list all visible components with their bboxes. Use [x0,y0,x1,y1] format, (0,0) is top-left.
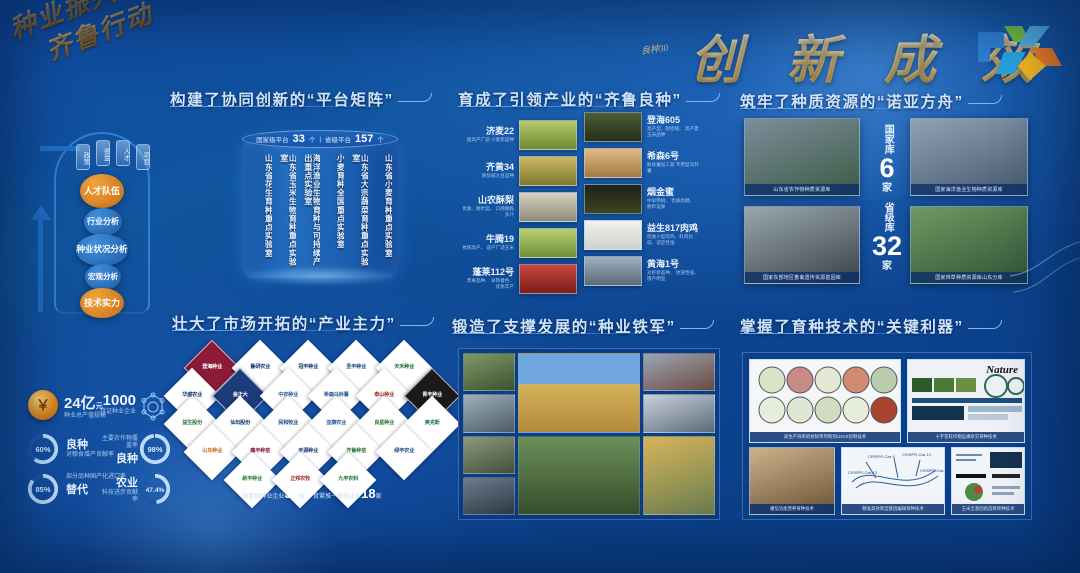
flow-node-technology: 技术实力 [80,288,124,318]
flow-node-seed-status: 种业状况分析 [76,234,128,266]
company-logo-label: 冠丰种业 [289,365,327,370]
underline-technology [740,333,945,334]
collage-photo-1 [463,394,515,432]
variety-9-desc: 对虾新品种、 抗逆性强、 增产明显 [647,270,699,281]
company-logo-label: 鲁研农业 [241,365,279,370]
matrix-national-value: 33 [293,133,305,145]
title-rule-icon [398,93,432,102]
matrix-national-label: 国家级平台 [256,134,289,144]
stat-1-label: 持证种业企业 [100,409,136,416]
statistics-panel: ￥ 24亿元 种业总产值规模 1000 持证种业企业 60% [14,388,174,513]
variety-item-9: 黄海1号 对虾新品种、 抗逆性强、 增产明显 [584,256,699,286]
matrix-national-unit: 个 [309,134,316,144]
matrix-cap-stats: 国家级平台33个 | 省级平台157个 [242,131,398,147]
flow-node-industry-analysis: 行业分析 [84,208,122,236]
variety-7-photo [584,184,642,214]
collage-photo-main-wheat [518,353,640,433]
variety-item-8: 益生817肉鸡 优质小型肉鸡、料肉比低、适应性强 [584,220,699,250]
variety-item-0: 济麦22 超高产广适 小麦新品种 [462,120,577,150]
calligraphy-seal: 种业振兴 齐鲁行动 [4,0,177,122]
underline-germplasm [740,108,955,109]
platform-matrix-cylinder: 国家级平台33个 | 省级平台157个 山东省花生育种重点实验室 山东省玉米生物… [228,124,412,292]
underline-team [452,333,657,334]
underline-platform [170,106,375,107]
genomic-selection-icon [952,448,1025,504]
stat-5-sublabel: 科技进步贡献率 [100,490,138,504]
tech-caption-3: 精准高效新型基因编辑育种技术 [842,504,944,514]
title-stamp: 良种30 [641,41,686,69]
company-logo-label: 天禾种业 [385,365,423,370]
ring-icon-3: 47.4% [138,472,172,506]
matrix-provincial-value: 157 [355,133,373,145]
variety-item-5: 登海605 高产型、耐密植、 高产夏玉米品种 [584,112,699,142]
matrix-label-4: 山东省大宗蔬菜育种重点实验室 [350,154,368,272]
company-logo-label: 圣丰种业 [337,365,375,370]
svg-text:CRISPR-Cas 13: CRISPR-Cas 13 [848,470,878,475]
ring-icon-0: 60% [26,432,60,466]
germplasm-counts: 国家库 6 家 省级库 32 家 [870,124,904,273]
variety-7-desc: 中早熟桃、 优质高糖、 耐贮运果 [647,198,699,209]
flow-node-talent: 人才队伍 [80,174,124,208]
industry-unit-2: 家 [376,494,382,500]
stat-5-label: 农业 [100,474,138,490]
variety-9-name: 黄海1号 [647,260,699,270]
company-logo-label: 良星种业 [365,421,403,426]
matrix-label-3: 小麦育种全国重点实验室 [326,154,344,272]
tech-panel-4: 玉米全基因组选择育种技术 [951,447,1025,515]
germplasm-provincial-label: 省级库 [881,202,894,232]
variety-5-name: 登海605 [647,116,699,126]
variety-6-name: 希森6号 [647,152,699,162]
flow-chip-2: 人才 [116,140,130,166]
flow-chip-0: 政策 [76,144,90,170]
variety-item-1: 齐黄34 耐盐碱大豆品种 [462,156,577,186]
ring-1-value: 98% [147,445,162,454]
variety-item-4: 蓬莱112号 苹果品种、 早熟着色、 优质丰产 [462,264,577,294]
stat-1-number: 1000 [100,392,136,409]
stat-3-sublabel: 主要农作物覆盖率 [102,436,138,450]
germplasm-national-unit: 家 [870,183,904,196]
stat-3-label: 良种 [102,450,138,466]
company-logo-label: 益生股份 [173,421,211,426]
variety-0-name: 济麦22 [462,127,514,137]
variety-3-photo [519,228,577,258]
title-rule-icon [686,93,720,102]
collage-photo-3 [463,477,515,515]
flow-chip-3: 项目 [136,144,150,170]
variety-1-desc: 耐盐碱大豆品种 [462,173,514,179]
svg-text:CRISPR-Cas 9: CRISPR-Cas 9 [868,454,896,459]
variety-8-photo [584,220,642,250]
germplasm-national-value: 6 [870,155,904,182]
company-logo-label: 正邦农牧 [281,477,319,482]
ring-3-value: 47.4% [146,487,165,494]
germplasm-caption-0: 山东省农作物种质资源库 [745,184,859,195]
variety-8-desc: 优质小型肉鸡、料肉比低、适应性强 [647,234,699,245]
collage-photo-portrait [643,436,715,516]
tech-caption-4: 玉米全基因组选择育种技术 [952,504,1024,514]
germplasm-caption-2: 国家东部地区畜禽遗传资源基因库 [745,272,859,283]
variety-2-name: 山农酥梨 [462,196,514,206]
svg-text:CRISPR-Cas 3: CRISPR-Cas 3 [920,468,945,473]
company-logo-label: 绿丰农业 [385,449,423,454]
flow-arrow-shaft [38,216,43,312]
flow-arrow-head-icon [31,205,51,220]
variety-item-2: 山农酥梨 优质、耐贮运、 口感酥脆多汁 [462,192,577,222]
variety-item-6: 希森6号 鲜食薯加工兼 专用型马铃薯 [584,148,699,178]
flow-arrow-elbow [40,146,80,151]
title-rule-icon [968,320,1002,329]
variety-1-photo [519,156,577,186]
industry-value-1: 32 [284,486,298,501]
collage-photo-2 [463,436,515,474]
company-logo-label: 民和牧业 [269,421,307,426]
germplasm-photo-2: 国家东部地区畜禽遗传资源基因库 [744,206,860,284]
company-logo-label: 鑫丰种苗 [241,449,279,454]
variety-4-photo [519,264,577,294]
seed-varieties-panel: 济麦22 超高产广适 小麦新品种 齐黄34 耐盐碱大豆品种 山农酥梨 优质、耐贮… [462,116,718,296]
variety-0-photo [519,120,577,150]
coin-icon: ￥ [28,390,58,420]
matrix-label-2: 海洋渔业生物育种与可持续产出重点实验室 [302,154,320,272]
company-logo-label: 九丰农科 [329,477,367,482]
ring-0-value: 60% [35,445,50,454]
collage-photo-0 [463,353,515,391]
tech-panel-1: Nature 十字花科作物远缘杂交育种技术 [907,359,1025,443]
variety-4-desc: 苹果品种、 早熟着色、 优质丰产 [462,278,514,289]
underline-industry [172,330,377,331]
nature-journal-badge: Nature [986,364,1018,376]
variety-9-photo [584,256,642,286]
tech-caption-1: 十字花科作物远缘杂交育种技术 [908,432,1024,442]
company-logo-grid: 登海种业鲁研农业冠丰种业圣丰种业天禾种业华盛农业金正大中农种业希森马铃薯泰山种业… [176,356,448,496]
ring-icon-1: 98% [138,432,172,466]
industry-label-2: 育繁推一体化企业 [313,494,361,500]
germplasm-provincial-value: 32 [870,233,904,260]
variety-3-name: 牛腾19 [462,235,514,245]
brand-logo-icon [974,22,1070,84]
company-logo-label: 登海种业 [193,365,231,370]
tech-panel-0: 高生产效率的抗除草剂制剂LDGS创制技术 [749,359,901,443]
variety-5-desc: 高产型、耐密植、 高产夏玉米品种 [647,126,699,137]
flow-node-macro-analysis: 宏观分析 [85,264,121,290]
title-rule-icon [400,317,434,326]
industry-unit-1: 家 [299,494,305,500]
germplasm-panel: 山东省农作物种质资源库 国家海洋渔业生物种质资源库 国家东部地区畜禽遗传资源基因… [742,116,1030,298]
tech-caption-0: 高生产效率的抗除草剂制剂LDGS创制技术 [750,432,900,442]
innovation-flow-diagram: 政策 资金 人才 项目 人才队伍 行业分析 种业状况分析 宏观分析 技术实力 [18,128,158,318]
tech-caption-2: 番茄功能营养育种技术 [750,504,834,514]
germplasm-photo-0: 山东省农作物种质资源库 [744,118,860,196]
crispr-diagram-icon: CRISPR-Cas 9CRISPR-Cas 12 CRISPR-Cas 13C… [842,448,945,504]
germplasm-photo-1: 国家海洋渔业生物种质资源库 [910,118,1028,196]
matrix-label-1: 山东省玉米生物育种重点实验室 [278,154,296,272]
variety-6-photo [584,148,642,178]
variety-4-name: 蓬莱112号 [462,268,514,278]
matrix-label-0: 山东省花生育种重点实验室 [254,154,272,272]
company-logo-label: 奥克斯 [413,421,451,426]
matrix-provincial-label: 省级平台 [325,134,351,144]
matrix-provincial-unit: 个 [377,134,384,144]
matrix-base-glow [242,266,398,286]
industry-value-2: 18 [361,486,375,501]
svg-text:CRISPR-Cas 12: CRISPR-Cas 12 [902,452,932,457]
company-logo-label: 亚康农业 [317,421,355,426]
variety-8-name: 益生817肉鸡 [647,224,699,234]
collage-photo-group [518,436,640,516]
variety-1-name: 齐黄34 [462,163,514,173]
variety-item-3: 牛腾19 抗病高产、 适产广适玉米 [462,228,577,258]
underline-varieties [458,106,663,107]
variety-2-photo [519,192,577,222]
ring-2-value: 85% [35,485,50,494]
title-rule-icon [968,95,1002,104]
team-photo-collage [458,348,720,520]
company-logo-label: 丰源种业 [289,449,327,454]
variety-3-desc: 抗病高产、 适产广适玉米 [462,245,514,251]
company-logo-label: 新丰种业 [233,477,271,482]
company-logo-label: 齐鲁种苗 [337,449,375,454]
germplasm-provincial-unit: 家 [870,261,904,274]
tech-panel-2: 番茄功能营养育种技术 [749,447,835,515]
germplasm-caption-1: 国家海洋渔业生物种质资源库 [911,184,1027,195]
company-logo-label: 山东种业 [193,449,231,454]
petri-dish-grid-icon [750,360,901,430]
breeding-technology-panel: 高生产效率的抗除草剂制剂LDGS创制技术 Nature 十字花科作物远缘杂交育种… [742,352,1032,520]
variety-7-name: 烟金蜜 [647,188,699,198]
variety-item-7: 烟金蜜 中早熟桃、 优质高糖、 耐贮运果 [584,184,699,214]
industry-caption: 国家级种业企业32家 | 育繁推一体化企业18家 [176,486,448,501]
title-rule-icon [680,320,714,329]
industry-label-1: 国家级种业企业 [242,494,284,500]
flow-chip-1: 资金 [96,140,110,166]
tech-panel-3: CRISPR-Cas 9CRISPR-Cas 12 CRISPR-Cas 13C… [841,447,945,515]
variety-6-desc: 鲜食薯加工兼 专用型马铃薯 [647,162,699,173]
variety-2-desc: 优质、耐贮运、 口感酥脆多汁 [462,206,514,217]
ring-icon-2: 85% [26,472,60,506]
variety-0-desc: 超高产广适 小麦新品种 [462,137,514,143]
exhibition-board: 种业振兴 齐鲁行动 良种30 创 新 成 效 构建了协同创新的“平台矩阵” 育成… [0,0,1080,573]
industry-divider: | [308,494,310,500]
germplasm-national-label: 国家库 [881,124,894,154]
variety-5-photo [584,112,642,142]
collage-photo-4 [643,353,715,391]
decorative-swoosh [1000,230,1080,350]
company-logo-label: 仙坛股份 [221,421,259,426]
matrix-divider: | [319,136,321,143]
stat-0-number: 24亿 [64,395,96,412]
collage-photo-5 [643,394,715,432]
matrix-label-5: 山东省小麦育种重点实验室 [374,154,392,272]
